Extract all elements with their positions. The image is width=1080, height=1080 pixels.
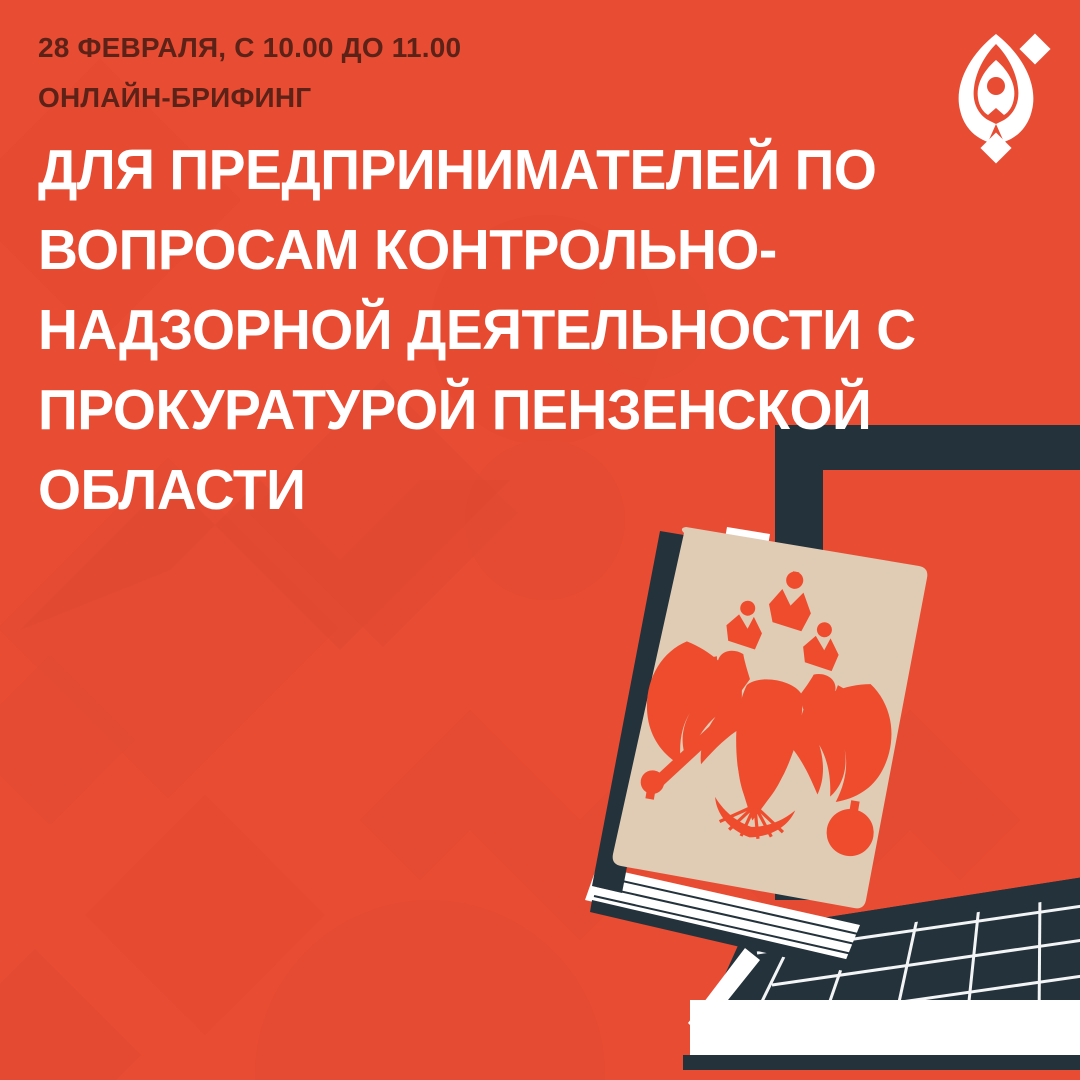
event-type: ОНЛАЙН-БРИФИНГ bbox=[38, 84, 868, 112]
text-block: 28 ФЕВРАЛЯ, С 10.00 ДО 11.00 ОНЛАЙН-БРИФ… bbox=[38, 34, 868, 542]
headline-line-3: НАДЗОРНОЙ ДЕЯТЕЛЬНОСТИ С bbox=[38, 302, 843, 359]
page-title: ДЛЯ ПРЕДПРИНИМАТЕЛЕЙ ПО ВОПРОСАМ КОНТРОЛ… bbox=[38, 142, 868, 519]
headline-line-1: ДЛЯ ПРЕДПРИНИМАТЕЛЕЙ ПО bbox=[38, 142, 843, 199]
poster-canvas: 28 ФЕВРАЛЯ, С 10.00 ДО 11.00 ОНЛАЙН-БРИФ… bbox=[0, 0, 1080, 1080]
date-line: 28 ФЕВРАЛЯ, С 10.00 ДО 11.00 bbox=[38, 34, 868, 62]
headline-line-4: ПРОКУРАТУРОЙ ПЕНЗЕНСКОЙ bbox=[38, 382, 843, 439]
headline-line-5: ОБЛАСТИ bbox=[38, 462, 843, 519]
headline-line-2: ВОПРОСАМ КОНТРОЛЬНО- bbox=[38, 222, 843, 279]
rocket-pin-logo bbox=[948, 24, 1058, 164]
